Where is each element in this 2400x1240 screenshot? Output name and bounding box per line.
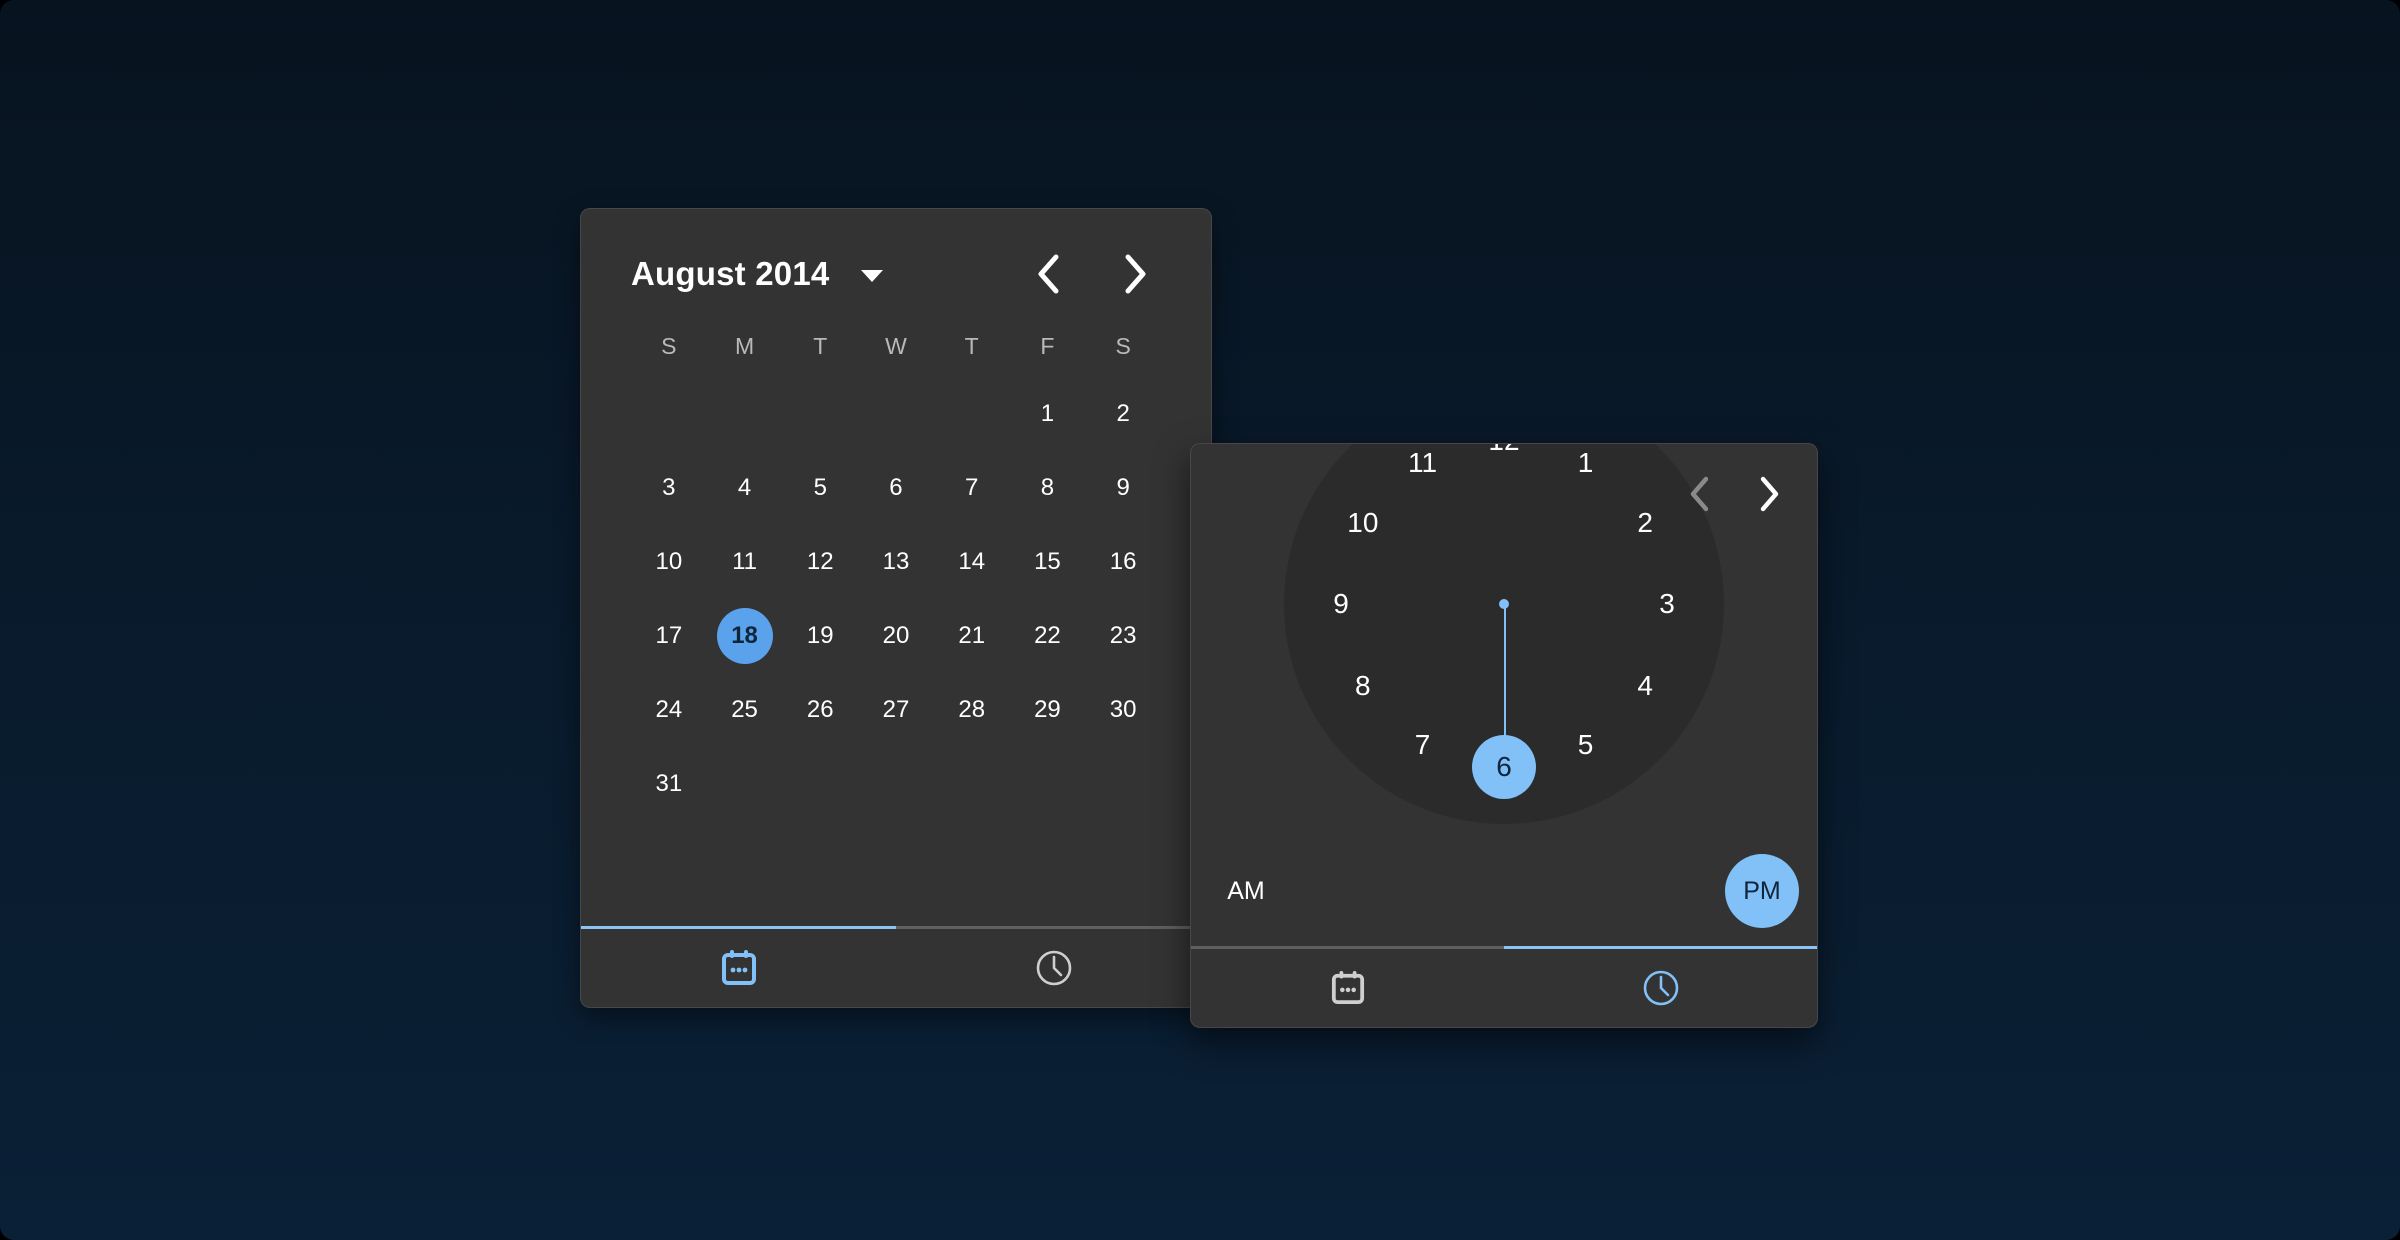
tab-indicator	[581, 926, 896, 929]
calendar-day-17[interactable]: 17	[631, 599, 707, 673]
calendar-day-26[interactable]: 26	[782, 673, 858, 747]
prev-month-button[interactable]	[1021, 248, 1073, 300]
tabbar	[1191, 949, 1817, 1027]
calendar-day-label: 5	[792, 460, 848, 516]
clock-hour-12[interactable]: 12	[1472, 443, 1536, 473]
weekday-header-row: SMTWTFS	[631, 325, 1161, 367]
calendar-day-14[interactable]: 14	[934, 525, 1010, 599]
calendar-day-label: 15	[1019, 534, 1075, 590]
clock-hour-11[interactable]: 11	[1391, 443, 1455, 495]
chevron-down-icon[interactable]	[861, 270, 883, 282]
calendar-day-22[interactable]: 22	[1010, 599, 1086, 673]
weekday-header-3: W	[858, 325, 934, 367]
month-year-label[interactable]: August 2014	[631, 255, 829, 293]
tab-time[interactable]	[1504, 949, 1817, 1027]
calendar-day-label: 11	[717, 534, 773, 590]
calendar-icon	[721, 949, 757, 987]
calendar-day-label: 18	[717, 608, 773, 664]
weekday-header-5: F	[1010, 325, 1086, 367]
pm-button[interactable]: PM	[1725, 854, 1799, 928]
tab-date[interactable]	[581, 929, 896, 1007]
calendar-day-label: 3	[641, 460, 697, 516]
calendar-day-label: 16	[1095, 534, 1151, 590]
clock-hour-4[interactable]: 4	[1613, 654, 1677, 718]
calendar-day-label: 17	[641, 608, 697, 664]
time-picker-body: 121234567891011 AM PM	[1191, 444, 1817, 946]
calendar-day-label: 24	[641, 682, 697, 738]
clock-icon	[1034, 948, 1074, 988]
clock-face[interactable]: 121234567891011	[1284, 443, 1724, 824]
calendar-day-label: 25	[717, 682, 773, 738]
calendar-day-6[interactable]: 6	[858, 451, 934, 525]
chevron-right-icon	[1758, 476, 1780, 512]
calendar-day-11[interactable]: 11	[707, 525, 783, 599]
calendar-days-grid: 1234567891011121314151617181920212223242…	[631, 377, 1161, 821]
clock-hour-2[interactable]: 2	[1613, 491, 1677, 555]
am-button[interactable]: AM	[1209, 854, 1283, 928]
clock-hour-3[interactable]: 3	[1635, 572, 1699, 636]
calendar-day-9[interactable]: 9	[1085, 451, 1161, 525]
calendar-day-label: 14	[944, 534, 1000, 590]
calendar-day-19[interactable]: 19	[782, 599, 858, 673]
calendar-day-label: 30	[1095, 682, 1151, 738]
calendar-day-label: 1	[1019, 386, 1075, 442]
calendar-day-29[interactable]: 29	[1010, 673, 1086, 747]
clock-hour-1[interactable]: 1	[1554, 443, 1618, 495]
date-picker-card: August 2014 SMTWTFS 12345678910111213141…	[580, 208, 1212, 1008]
weekday-header-0: S	[631, 325, 707, 367]
calendar-day-27[interactable]: 27	[858, 673, 934, 747]
calendar-day-1[interactable]: 1	[1010, 377, 1086, 451]
date-picker-tabbar	[581, 926, 1211, 1007]
calendar-day-31[interactable]: 31	[631, 747, 707, 821]
calendar-day-empty	[707, 377, 783, 451]
calendar-day-5[interactable]: 5	[782, 451, 858, 525]
calendar-day-label: 31	[641, 756, 697, 812]
calendar-day-23[interactable]: 23	[1085, 599, 1161, 673]
tab-track	[1191, 946, 1817, 949]
calendar-day-7[interactable]: 7	[934, 451, 1010, 525]
calendar-day-label: 6	[868, 460, 924, 516]
clock-icon	[1641, 968, 1681, 1008]
calendar-day-label: 4	[717, 460, 773, 516]
calendar-day-label: 23	[1095, 608, 1151, 664]
calendar-day-4[interactable]: 4	[707, 451, 783, 525]
next-month-button[interactable]	[1109, 248, 1161, 300]
tab-track	[581, 926, 1211, 929]
tab-date[interactable]	[1191, 949, 1504, 1027]
clock-hour-5[interactable]: 5	[1554, 713, 1618, 777]
tab-time[interactable]	[896, 929, 1211, 1007]
clock-hour-8[interactable]: 8	[1331, 654, 1395, 718]
calendar-day-18[interactable]: 18	[707, 599, 783, 673]
calendar-day-label: 7	[944, 460, 1000, 516]
date-picker-header: August 2014	[631, 243, 1161, 305]
app-background: August 2014 SMTWTFS 12345678910111213141…	[0, 0, 2400, 1240]
calendar-day-15[interactable]: 15	[1010, 525, 1086, 599]
time-nav-controls	[1673, 468, 1795, 520]
calendar-day-label: 9	[1095, 460, 1151, 516]
calendar-day-label: 12	[792, 534, 848, 590]
calendar-day-8[interactable]: 8	[1010, 451, 1086, 525]
calendar-day-label: 22	[1019, 608, 1075, 664]
time-picker-card: 121234567891011 AM PM	[1190, 443, 1818, 1028]
calendar-day-10[interactable]: 10	[631, 525, 707, 599]
calendar-day-28[interactable]: 28	[934, 673, 1010, 747]
calendar-day-21[interactable]: 21	[934, 599, 1010, 673]
calendar-day-16[interactable]: 16	[1085, 525, 1161, 599]
calendar-day-12[interactable]: 12	[782, 525, 858, 599]
chevron-left-icon	[1688, 476, 1710, 512]
calendar-day-label: 28	[944, 682, 1000, 738]
calendar-day-25[interactable]: 25	[707, 673, 783, 747]
chevron-right-icon	[1122, 253, 1148, 295]
calendar-day-2[interactable]: 2	[1085, 377, 1161, 451]
calendar-day-24[interactable]: 24	[631, 673, 707, 747]
clock-hour-10[interactable]: 10	[1331, 491, 1395, 555]
next-time-button[interactable]	[1743, 468, 1795, 520]
clock-hour-6[interactable]: 6	[1472, 735, 1536, 799]
calendar-day-30[interactable]: 30	[1085, 673, 1161, 747]
weekday-header-2: T	[782, 325, 858, 367]
calendar-day-13[interactable]: 13	[858, 525, 934, 599]
tab-indicator	[1504, 946, 1817, 949]
chevron-left-icon	[1034, 253, 1060, 295]
tabbar	[581, 929, 1211, 1007]
date-picker-body: August 2014 SMTWTFS 12345678910111213141…	[581, 209, 1211, 926]
weekday-header-4: T	[934, 325, 1010, 367]
calendar-day-label: 29	[1019, 682, 1075, 738]
calendar-day-empty	[858, 377, 934, 451]
calendar-day-label: 19	[792, 608, 848, 664]
calendar-day-3[interactable]: 3	[631, 451, 707, 525]
calendar-day-label: 13	[868, 534, 924, 590]
calendar-day-label: 10	[641, 534, 697, 590]
calendar-day-label: 27	[868, 682, 924, 738]
calendar-icon	[1331, 970, 1365, 1006]
calendar-day-label: 21	[944, 608, 1000, 664]
calendar-day-empty	[782, 377, 858, 451]
calendar-day-label: 8	[1019, 460, 1075, 516]
calendar-day-label: 20	[868, 608, 924, 664]
weekday-header-6: S	[1085, 325, 1161, 367]
calendar-day-empty	[631, 377, 707, 451]
prev-time-button[interactable]	[1673, 468, 1725, 520]
calendar-day-label: 2	[1095, 386, 1151, 442]
calendar-day-label: 26	[792, 682, 848, 738]
weekday-header-1: M	[707, 325, 783, 367]
calendar-day-20[interactable]: 20	[858, 599, 934, 673]
calendar-day-empty	[934, 377, 1010, 451]
clock-hour-7[interactable]: 7	[1391, 713, 1455, 777]
time-picker-tabbar	[1191, 946, 1817, 1027]
clock-hour-9[interactable]: 9	[1309, 572, 1373, 636]
clock-numbers: 121234567891011	[1284, 443, 1724, 824]
